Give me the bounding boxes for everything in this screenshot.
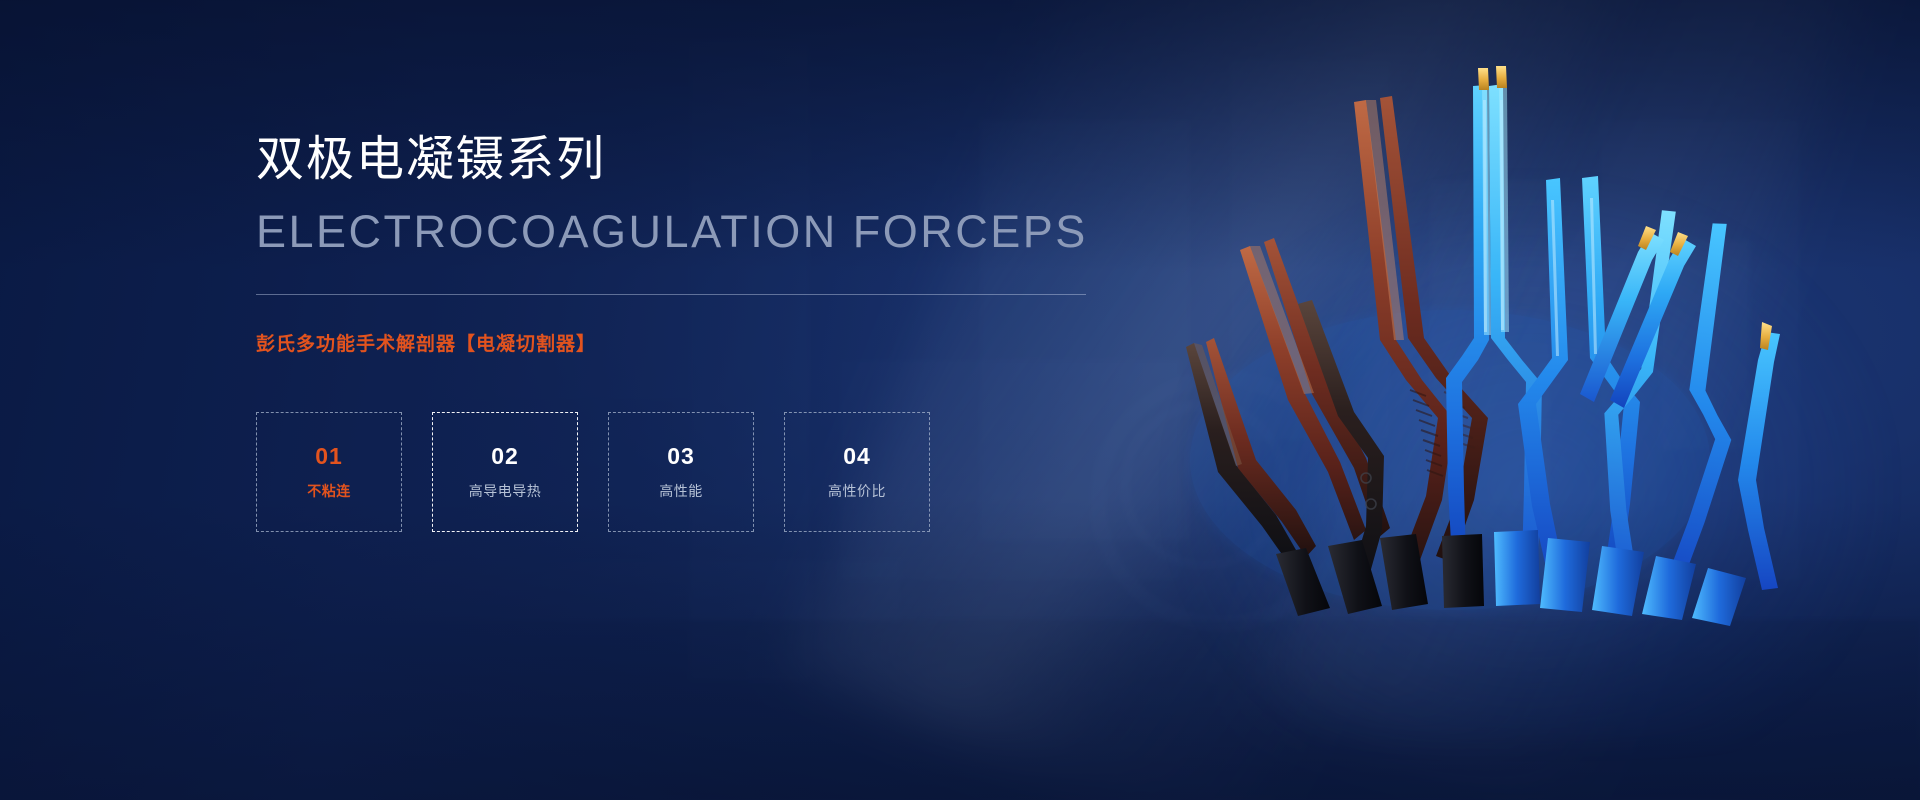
product-description: 彭氏多功能手术解剖器【电凝切割器】 xyxy=(256,329,1106,356)
feature-number: 02 xyxy=(491,445,519,468)
feature-card-01[interactable]: 01 不粘连 xyxy=(256,412,402,532)
feature-label: 高导电导热 xyxy=(469,484,542,498)
banner-content: 双极电凝镊系列 ELECTROCOAGULATION FORCEPS 彭氏多功能… xyxy=(256,132,1106,532)
feature-card-02[interactable]: 02 高导电导热 xyxy=(432,412,578,532)
feature-label: 不粘连 xyxy=(307,484,351,498)
page-title: 双极电凝镊系列 xyxy=(256,132,1106,189)
feature-number: 04 xyxy=(843,445,871,468)
feature-label: 高性能 xyxy=(659,484,703,498)
feature-number: 01 xyxy=(315,445,343,468)
product-banner: 双极电凝镊系列 ELECTROCOAGULATION FORCEPS 彭氏多功能… xyxy=(0,0,1920,800)
feature-list: 01 不粘连 02 高导电导热 03 高性能 04 高性价比 xyxy=(256,412,1106,532)
forceps-artwork xyxy=(1090,60,1790,620)
title-divider xyxy=(256,294,1086,295)
page-subtitle-english: ELECTROCOAGULATION FORCEPS xyxy=(256,205,1106,259)
feature-card-04[interactable]: 04 高性价比 xyxy=(784,412,930,532)
forceps-instrument-blue-9 xyxy=(1738,322,1780,590)
feature-label: 高性价比 xyxy=(828,484,886,498)
feature-number: 03 xyxy=(667,445,695,468)
forceps-base-cuffs xyxy=(1276,530,1746,626)
feature-card-03[interactable]: 03 高性能 xyxy=(608,412,754,532)
